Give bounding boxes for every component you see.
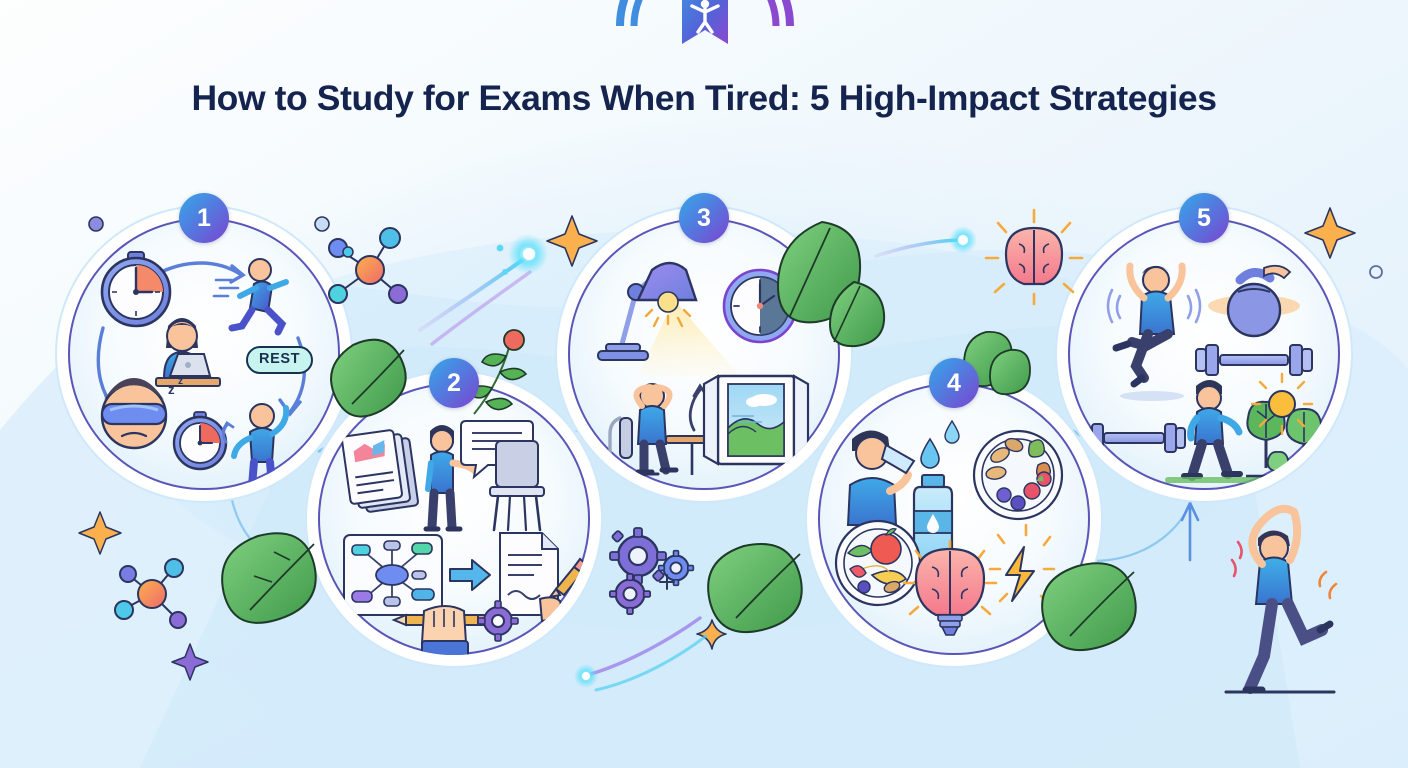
step-3-badge: 3 bbox=[679, 193, 729, 243]
step-1-badge: 1 bbox=[179, 193, 229, 243]
molecule-icon bbox=[329, 228, 407, 303]
step-2-badge: 2 bbox=[429, 358, 479, 408]
leaf-icon bbox=[778, 222, 884, 346]
celebrating-person-icon bbox=[1226, 509, 1336, 692]
comet-trail-icon bbox=[574, 618, 706, 690]
sparkle-star-icon bbox=[172, 644, 208, 680]
gear-cluster-icon bbox=[610, 528, 694, 614]
glowing-brain-icon bbox=[986, 210, 1082, 304]
leaf-icon bbox=[1042, 563, 1136, 650]
infographic-canvas: How to Study for Exams When Tired: 5 Hig… bbox=[0, 0, 1408, 768]
step-4-badge: 4 bbox=[929, 358, 979, 408]
step-5-badge: 5 bbox=[1179, 193, 1229, 243]
comet-trail-icon bbox=[876, 226, 977, 256]
sparkle-star-icon bbox=[79, 512, 121, 554]
sparkle-star-icon bbox=[547, 216, 597, 266]
leaf-icon bbox=[708, 544, 802, 632]
leaf-icon bbox=[222, 533, 316, 623]
decorative-layer bbox=[0, 0, 1408, 768]
molecule-icon bbox=[115, 559, 186, 628]
leaf-icon bbox=[324, 334, 413, 422]
comet-trail-icon bbox=[420, 234, 548, 344]
sparkle-star-icon bbox=[1305, 208, 1355, 258]
